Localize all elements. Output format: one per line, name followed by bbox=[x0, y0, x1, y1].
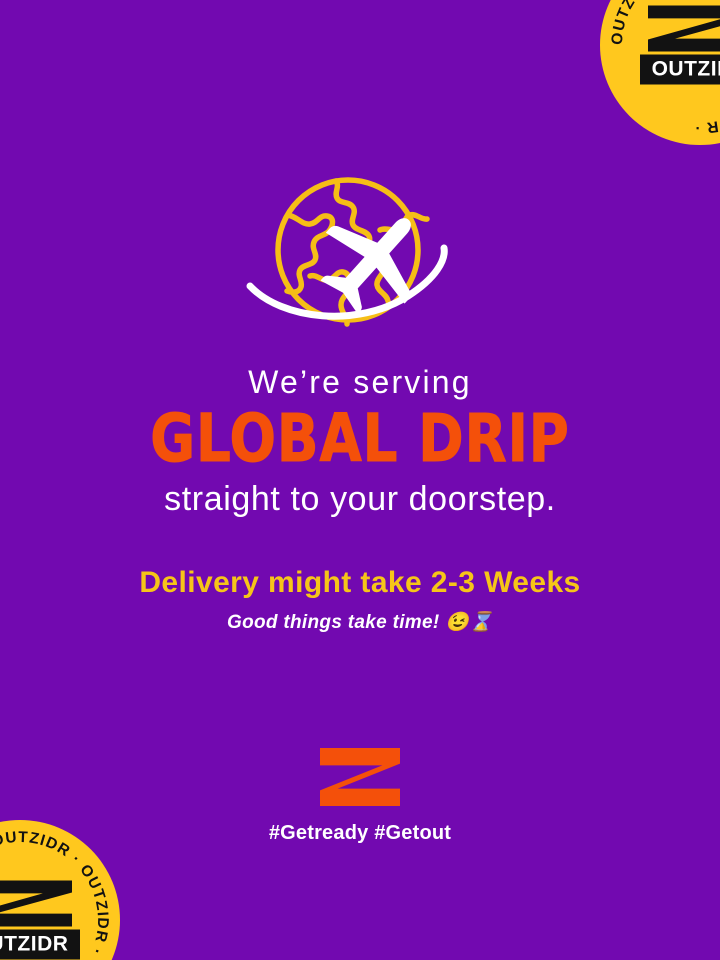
subline-text: straight to your doorstep. bbox=[0, 478, 720, 520]
globe-icon bbox=[230, 168, 490, 348]
z-logo-icon bbox=[320, 748, 400, 806]
z-logo-icon bbox=[0, 881, 72, 927]
badge-inner-bottom-left: OUTZIDR bbox=[0, 881, 80, 960]
eyebrow-text: We’re serving bbox=[0, 362, 720, 402]
badge-bottom-left: OUTZIDR · OUTZIDR · OUTZIDR · OUTZIDR · … bbox=[0, 820, 120, 960]
reassurance-text: Good things take time! 😉⌛ bbox=[0, 610, 720, 636]
badge-top-right: OUTZIDR · OUTZIDR · OUTZIDR · OUTZIDR · … bbox=[600, 0, 720, 145]
z-logo-icon bbox=[648, 6, 720, 52]
badge-inner-top-right: OUTZIDR bbox=[640, 6, 720, 85]
delivery-notice: Delivery might take 2-3 Weeks bbox=[0, 564, 720, 602]
badge-wordmark: OUTZIDR bbox=[640, 55, 720, 85]
poster-copy: We’re serving GLOBAL DRIP straight to yo… bbox=[0, 362, 720, 636]
promo-poster: We’re serving GLOBAL DRIP straight to yo… bbox=[0, 0, 720, 960]
badge-wordmark: OUTZIDR bbox=[0, 930, 80, 960]
page-title: GLOBAL DRIP bbox=[29, 404, 691, 474]
globe-plane-illustration bbox=[0, 168, 720, 348]
